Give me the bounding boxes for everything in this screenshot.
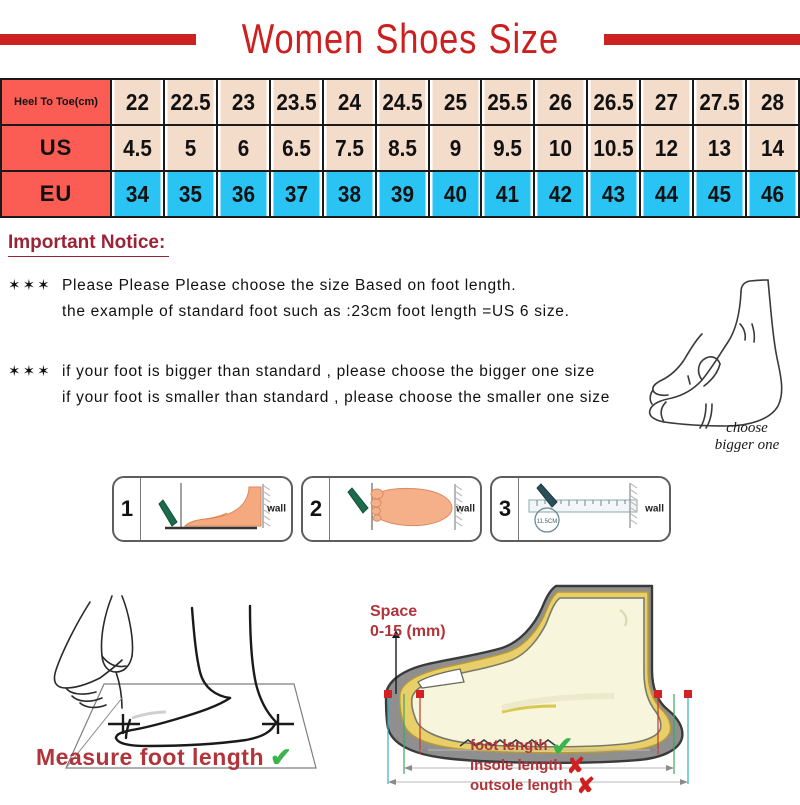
cell-cm-3: 23.5 (272, 79, 320, 125)
step-panel-3: 3 (490, 476, 671, 542)
cell-eu-11: 45 (696, 171, 744, 217)
measure-foot-length-label: Measure foot length ✔ (36, 742, 292, 773)
cell-us-9: 10.5 (590, 125, 638, 171)
notice-text: if your foot is bigger than standard , p… (62, 359, 595, 385)
notice-text: Please Please Please choose the size Bas… (62, 273, 516, 299)
page-title: WomenShoesSize (236, 15, 565, 63)
wall-label-3: wall (645, 504, 664, 515)
step-2-illustration: wall (330, 478, 480, 540)
cell-us-0: 4.5 (114, 125, 162, 171)
foot-length-label: foot length (470, 736, 547, 756)
cell-eu-10: 44 (643, 171, 691, 217)
cell-eu-6: 40 (431, 171, 479, 217)
table-row-eu: EU 34 35 36 37 38 39 40 41 42 43 44 45 4… (1, 171, 799, 217)
cell-eu-1: 35 (167, 171, 215, 217)
cell-cm-9: 26.5 (590, 79, 638, 125)
cell-cm-6: 25 (431, 79, 479, 125)
cell-cm-5: 24.5 (378, 79, 426, 125)
table-row-us: US 4.5 5 6 6.5 7.5 8.5 9 9.5 10 10.5 12 … (1, 125, 799, 171)
asterisk-marker: ✶✶✶ (8, 359, 62, 385)
row-header-us: US (1, 125, 111, 171)
cell-cm-2: 23 (219, 79, 267, 125)
table-row-heel-to-toe: Heel To Toe(cm) 22 22.5 23 23.5 24 24.5 … (1, 79, 799, 125)
notice-text: if your foot is smaller than standard , … (62, 385, 610, 411)
cell-us-3: 6.5 (272, 125, 320, 171)
row-header-eu: EU (1, 171, 111, 217)
asterisk-marker: ✶✶✶ (8, 273, 62, 299)
cell-eu-9: 43 (590, 171, 638, 217)
title-word-3: Size (488, 15, 558, 62)
cell-us-2: 6 (219, 125, 267, 171)
caption-line-1: choose (692, 420, 800, 437)
space-label-line-2: 0-15 (mm) (370, 622, 446, 642)
check-icon: ✔ (270, 742, 292, 773)
choose-bigger-one-caption: choose bigger one (692, 420, 800, 454)
cell-us-10: 12 (643, 125, 691, 171)
cell-us-6: 9 (431, 125, 479, 171)
cell-eu-2: 36 (219, 171, 267, 217)
step-number-2: 2 (303, 478, 330, 540)
cell-us-8: 10 (537, 125, 585, 171)
cell-cm-4: 24 (325, 79, 373, 125)
step-panel-2: 2 wall (301, 476, 482, 542)
cell-us-5: 8.5 (378, 125, 426, 171)
cross-icon: ✘ (577, 776, 595, 796)
step-panel-1: 1 wall (112, 476, 293, 542)
length-labels-group: foot length ✔ insole length ✘ outsole le… (470, 736, 595, 796)
title-rule-right (604, 34, 800, 45)
cell-cm-7: 25.5 (484, 79, 532, 125)
insole-length-label: insole length (470, 756, 563, 776)
cell-eu-12: 46 (749, 171, 797, 217)
space-label-line-1: Space (370, 602, 446, 622)
cell-eu-8: 42 (537, 171, 585, 217)
space-gap-label: Space 0-15 (mm) (370, 602, 446, 642)
cell-us-4: 7.5 (325, 125, 373, 171)
caption-line-2: bigger one (692, 437, 800, 454)
row-header-heel-to-toe: Heel To Toe(cm) (1, 79, 111, 125)
cell-cm-12: 28 (749, 79, 797, 125)
outsole-length-label: outsole length (470, 776, 573, 796)
cell-eu-5: 39 (378, 171, 426, 217)
step-1-illustration: wall (141, 478, 291, 540)
title-word-1: Women (241, 15, 363, 62)
cell-eu-3: 37 (272, 171, 320, 217)
wall-label-1: wall (267, 504, 286, 515)
measurement-steps: 1 wall 2 (112, 476, 671, 542)
measure-label-text: Measure foot length (36, 744, 264, 771)
ruler-measurement-text: 11.5CM (537, 519, 558, 525)
cell-us-12: 14 (749, 125, 797, 171)
cell-us-7: 9.5 (484, 125, 532, 171)
outsole-length-label-row: outsole length ✘ (470, 776, 595, 796)
wall-label-2: wall (456, 504, 475, 515)
cell-cm-10: 27 (643, 79, 691, 125)
cell-eu-0: 34 (114, 171, 162, 217)
size-chart-table: Heel To Toe(cm) 22 22.5 23 23.5 24 24.5 … (0, 78, 800, 218)
cell-us-1: 5 (167, 125, 215, 171)
title-rule-left (0, 34, 196, 45)
cell-cm-8: 26 (537, 79, 585, 125)
cell-eu-4: 38 (325, 171, 373, 217)
cell-eu-7: 41 (484, 171, 532, 217)
cell-cm-0: 22 (114, 79, 162, 125)
step-3-illustration: 11.5CM wall (519, 478, 669, 540)
cell-cm-11: 27.5 (696, 79, 744, 125)
step-number-3: 3 (492, 478, 519, 540)
page-title-bar: WomenShoesSize (0, 0, 800, 78)
notice-text: the example of standard foot such as :23… (62, 299, 570, 325)
cell-cm-1: 22.5 (167, 79, 215, 125)
notice-heading: Important Notice: (8, 232, 169, 257)
step-number-1: 1 (114, 478, 141, 540)
cell-us-11: 13 (696, 125, 744, 171)
title-word-2: Shoes (375, 15, 477, 62)
